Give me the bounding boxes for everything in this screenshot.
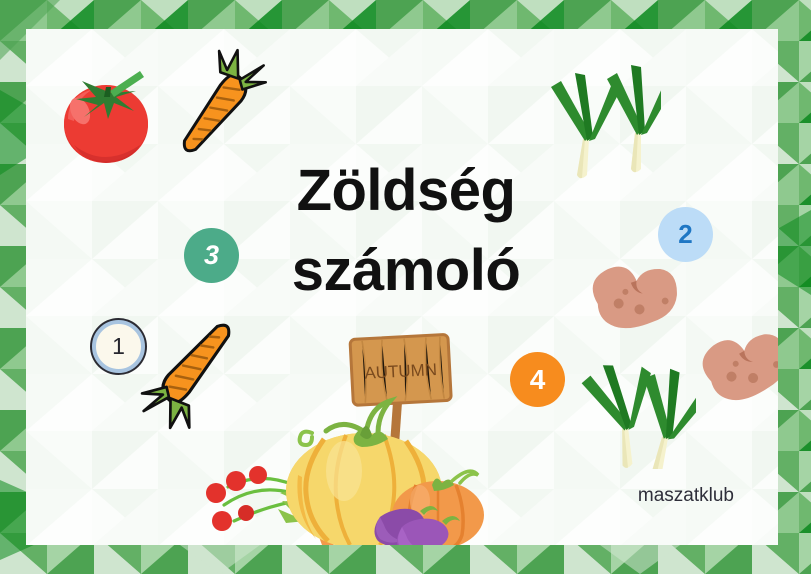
number-badge-2[interactable]: 2 <box>658 207 713 262</box>
tomato-illustration <box>54 57 164 167</box>
autumn-sign-text: AUTUMN <box>364 360 438 383</box>
autumn-harvest-illustration: AUTUMN <box>194 325 484 545</box>
page-title: Zöldség számoló <box>196 151 616 311</box>
watermark-maszatklub: maszatklub <box>638 485 734 507</box>
potato-illustration-lower <box>688 319 778 414</box>
content-card: AUTUMN <box>26 29 778 545</box>
poster: AUTUMN <box>0 0 811 574</box>
number-badge-1[interactable]: 1 <box>92 320 145 373</box>
spring-onions-illustration-bottom <box>566 339 696 469</box>
number-badge-4[interactable]: 4 <box>510 352 565 407</box>
